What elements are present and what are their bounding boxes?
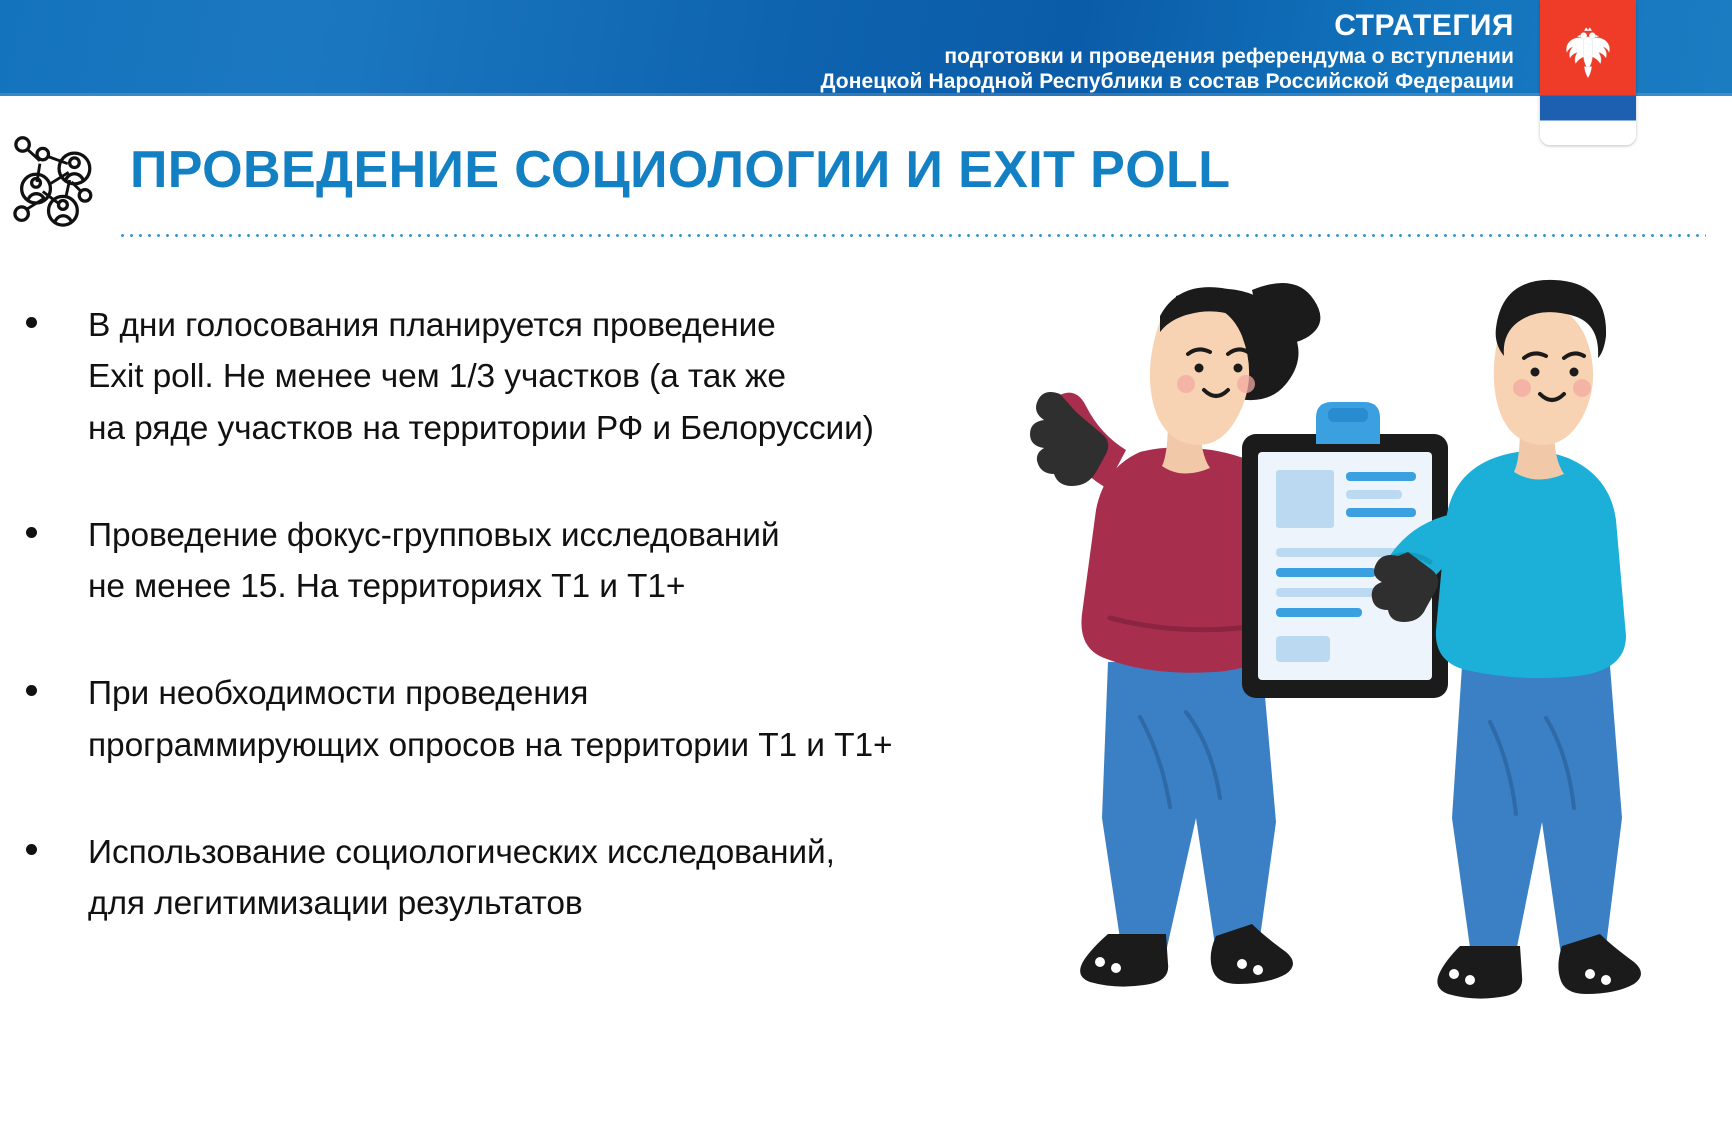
two-people-with-clipboard-illustration (990, 262, 1730, 1022)
bullet-text: Проведение фокус-групповых исследований … (88, 510, 1060, 613)
header-text-block: СТРАТЕГИЯ подготовки и проведения рефере… (820, 8, 1514, 95)
bullet-dot-icon (26, 317, 37, 328)
woman-trousers (1102, 662, 1276, 952)
coat-of-arms-eagle-icon (1557, 22, 1619, 84)
bullet-dot-icon (26, 527, 37, 538)
bullet-dot-icon (26, 844, 37, 855)
man-trousers (1452, 666, 1622, 962)
header-title: СТРАТЕГИЯ (820, 8, 1514, 43)
list-item: Проведение фокус-групповых исследований … (0, 510, 1060, 613)
title-dotted-divider (118, 234, 1706, 237)
emblem-flag-block (1540, 0, 1636, 145)
paper-photo-block (1276, 470, 1334, 528)
woman-shoe-left (1080, 934, 1168, 987)
bullet-text: Использование социологических исследован… (88, 827, 1060, 930)
presentation-slide: СТРАТЕГИЯ подготовки и проведения рефере… (0, 0, 1732, 1124)
bullet-dot-icon (26, 685, 37, 696)
bullet-list: В дни голосования планируется проведение… (0, 300, 1060, 929)
list-item: При необходимости проведения программиру… (0, 668, 1060, 771)
list-item: В дни голосования планируется проведение… (0, 300, 1060, 454)
social-network-icon (8, 132, 114, 228)
bullet-text: При необходимости проведения программиру… (88, 668, 1060, 771)
header-subtitle-line-1: подготовки и проведения референдума о вс… (820, 45, 1514, 70)
bullet-text: В дни голосования планируется проведение… (88, 300, 1060, 454)
slide-header-band: СТРАТЕГИЯ подготовки и проведения рефере… (0, 0, 1732, 96)
header-subtitle-line-2: Донецкой Народной Республики в состав Ро… (820, 70, 1514, 95)
dpr-flag (1540, 0, 1636, 145)
page-title: ПРОВЕДЕНИЕ СОЦИОЛОГИИ И EXIT POLL (130, 140, 1230, 200)
man-sweater (1436, 451, 1626, 678)
slide-title-row: ПРОВЕДЕНИЕ СОЦИОЛОГИИ И EXIT POLL (0, 126, 1732, 236)
list-item: Использование социологических исследован… (0, 827, 1060, 930)
